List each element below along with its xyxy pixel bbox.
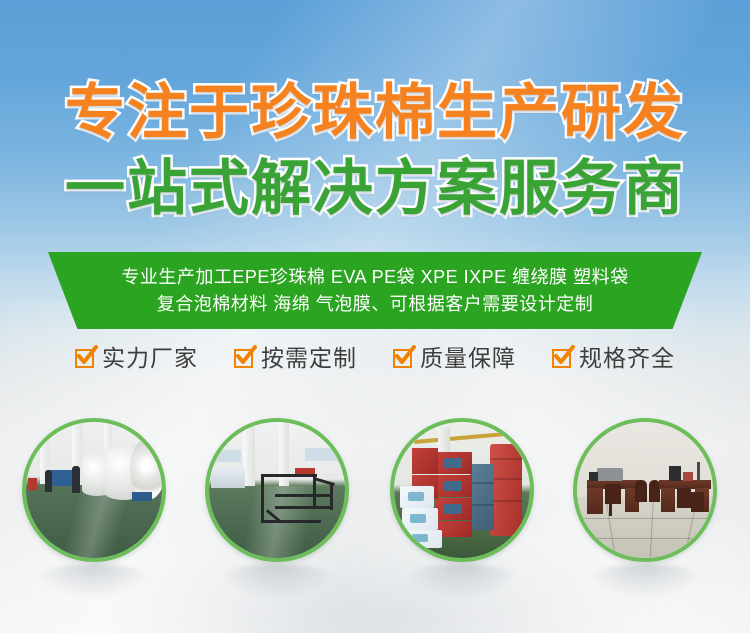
- photo-slot-0: [22, 418, 166, 562]
- product-list-banner: 专业生产加工EPE珍珠棉 EVA PE袋 XPE IXPE 缠绕膜 塑料袋 复合…: [48, 252, 702, 329]
- feature-item-3: 规格齐全: [552, 345, 675, 371]
- factory-foam-rolls-photo[interactable]: [22, 418, 166, 562]
- feature-list: 实力厂家 按需定制 质量保障 规格齐全: [0, 341, 750, 375]
- photo-slot-3: [573, 418, 717, 562]
- headline-line-2: 一站式解决方案服务商: [0, 158, 750, 220]
- photo-reflection: [402, 564, 522, 598]
- feature-label-2: 质量保障: [420, 345, 516, 371]
- photo-slot-1: [205, 418, 349, 562]
- check-box-icon: [393, 349, 412, 368]
- feature-label-3: 规格齐全: [579, 345, 675, 371]
- photo-reflection: [217, 564, 337, 598]
- promo-banner: 专注于珍珠棉生产研发 一站式解决方案服务商 专业生产加工EPE珍珠棉 EVA P…: [0, 0, 750, 633]
- product-list-line-1: 专业生产加工EPE珍珠棉 EVA PE袋 XPE IXPE 缠绕膜 塑料袋: [121, 264, 628, 291]
- feature-item-2: 质量保障: [393, 345, 516, 371]
- photo-gallery: [0, 418, 750, 568]
- warehouse-metal-rack-photo[interactable]: [205, 418, 349, 562]
- check-box-icon: [234, 349, 253, 368]
- product-list-line-2: 复合泡棉材料 海绵 气泡膜、可根据客户需要设计定制: [157, 291, 594, 318]
- check-box-icon: [552, 349, 571, 368]
- check-box-icon: [75, 349, 94, 368]
- headline-line-1: 专注于珍珠棉生产研发: [0, 82, 750, 144]
- feature-item-0: 实力厂家: [75, 345, 198, 371]
- office-interior-photo[interactable]: [573, 418, 717, 562]
- photo-reflection: [34, 564, 154, 598]
- photo-reflection: [585, 564, 705, 598]
- photo-slot-2: [390, 418, 534, 562]
- feature-item-1: 按需定制: [234, 345, 357, 371]
- feature-label-1: 按需定制: [261, 345, 357, 371]
- feature-label-0: 实力厂家: [102, 345, 198, 371]
- stacked-packages-photo[interactable]: [390, 418, 534, 562]
